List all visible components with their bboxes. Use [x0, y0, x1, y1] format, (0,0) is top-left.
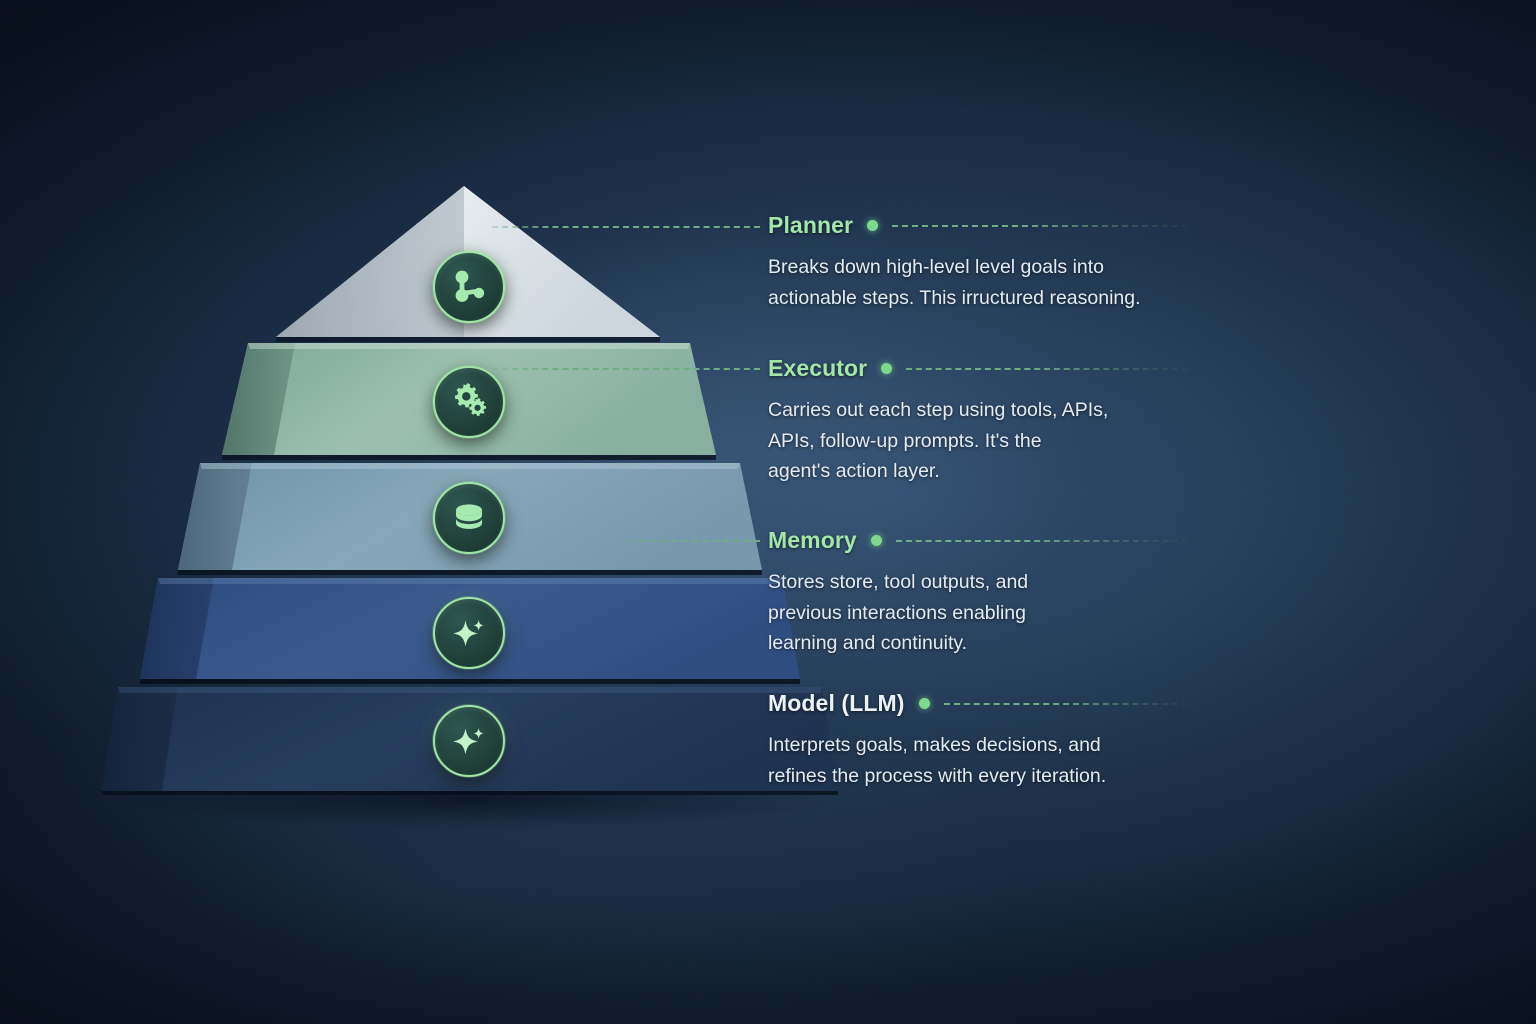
- pyramid-diagram: [0, 0, 900, 880]
- trailing-dash-line: [896, 540, 1198, 542]
- callout-header: Planner: [768, 212, 1198, 239]
- callout-header: Memory: [768, 527, 1198, 554]
- bullet-dot-icon: [867, 220, 878, 231]
- callout-memory: Memory Stores store, tool outputs, and p…: [768, 527, 1198, 659]
- bullet-dot-icon: [871, 535, 882, 546]
- connector-line-memory: [620, 540, 760, 542]
- sparkle-icon[interactable]: [433, 597, 505, 669]
- callout-model-llm: Model (LLM) Interprets goals, makes deci…: [768, 690, 1198, 791]
- bullet-dot-icon: [919, 698, 930, 709]
- callout-body: Carries out each step using tools, APIs,…: [768, 395, 1168, 487]
- callout-line: previous interactions enabling: [768, 598, 1168, 629]
- callout-line: refines the process with every iteration…: [768, 761, 1168, 792]
- callout-title: Planner: [768, 212, 853, 239]
- callout-line: Interprets goals, makes decisions, and: [768, 730, 1168, 761]
- connector-line-executor: [492, 368, 760, 370]
- sparkle-icon[interactable]: [433, 705, 505, 777]
- callout-line: Breaks down high-level level goals into: [768, 252, 1168, 283]
- callout-title: Model (LLM): [768, 690, 905, 717]
- database-icon[interactable]: [433, 482, 505, 554]
- trailing-dash-line: [892, 225, 1198, 227]
- callout-line: actionable steps. This irructured reason…: [768, 283, 1168, 314]
- trailing-dash-line: [906, 368, 1198, 370]
- callout-title: Memory: [768, 527, 857, 554]
- callout-executor: Executor Carries out each step using too…: [768, 355, 1198, 487]
- callout-body: Stores store, tool outputs, and previous…: [768, 567, 1168, 659]
- bullet-dot-icon: [881, 363, 892, 374]
- callout-line: Stores store, tool outputs, and: [768, 567, 1168, 598]
- node-graph-icon[interactable]: [433, 251, 505, 323]
- callout-header: Executor: [768, 355, 1198, 382]
- callout-body: Breaks down high-level level goals into …: [768, 252, 1168, 313]
- callout-line: learning and continuity.: [768, 628, 1168, 659]
- callout-planner: Planner Breaks down high-level level goa…: [768, 212, 1198, 313]
- callout-line: Carries out each step using tools, APIs,: [768, 395, 1168, 426]
- connector-line-planner: [492, 226, 760, 228]
- callout-header: Model (LLM): [768, 690, 1198, 717]
- callout-title: Executor: [768, 355, 867, 382]
- gears-icon[interactable]: [433, 366, 505, 438]
- callout-body: Interprets goals, makes decisions, and r…: [768, 730, 1168, 791]
- trailing-dash-line: [944, 703, 1198, 705]
- callout-line: APIs, follow-up prompts. It's the: [768, 426, 1168, 457]
- callout-line: agent's action layer.: [768, 456, 1168, 487]
